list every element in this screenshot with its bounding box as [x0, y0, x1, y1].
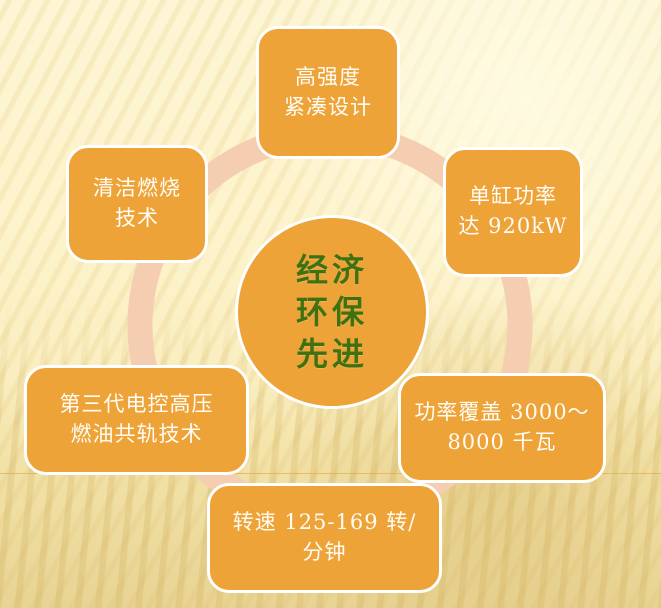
node-bottom-right-line-1: 功率覆盖 3000～ — [414, 398, 589, 428]
node-top-line-1: 高强度 — [295, 63, 361, 93]
node-right-line-2: 达 920kW — [458, 212, 567, 242]
node-bottom-right-line-2: 8000 千瓦 — [447, 428, 556, 458]
node-top-line-2: 紧凑设计 — [284, 93, 372, 123]
node-power-range[interactable]: 功率覆盖 3000～ 8000 千瓦 — [398, 373, 606, 483]
node-common-rail-fuel-technology[interactable]: 第三代电控高压 燃油共轨技术 — [24, 365, 249, 475]
node-left-line-2: 技术 — [115, 204, 159, 234]
node-bottom-left-line-1: 第三代电控高压 — [60, 390, 214, 420]
node-bottom-line-1: 转速 125-169 转/ — [233, 508, 417, 538]
center-hub[interactable]: 经济 环保 先进 — [238, 218, 426, 406]
center-hub-line-3: 先进 — [296, 334, 368, 374]
node-right-line-1: 单缸功率 — [469, 182, 557, 212]
node-rotation-speed[interactable]: 转速 125-169 转/ 分钟 — [207, 483, 442, 593]
node-single-cylinder-power[interactable]: 单缸功率 达 920kW — [443, 147, 583, 277]
node-bottom-line-2: 分钟 — [303, 538, 347, 568]
node-left-line-1: 清洁燃烧 — [93, 174, 181, 204]
slide-canvas: 经济 环保 先进 高强度 紧凑设计 清洁燃烧 技术 单缸功率 达 920kW 功… — [0, 0, 661, 608]
node-high-strength-compact-design[interactable]: 高强度 紧凑设计 — [256, 26, 400, 159]
node-clean-combustion-technology[interactable]: 清洁燃烧 技术 — [66, 145, 208, 263]
center-hub-line-2: 环保 — [296, 292, 368, 332]
node-bottom-left-line-2: 燃油共轨技术 — [71, 420, 203, 450]
center-hub-line-1: 经济 — [296, 250, 368, 290]
